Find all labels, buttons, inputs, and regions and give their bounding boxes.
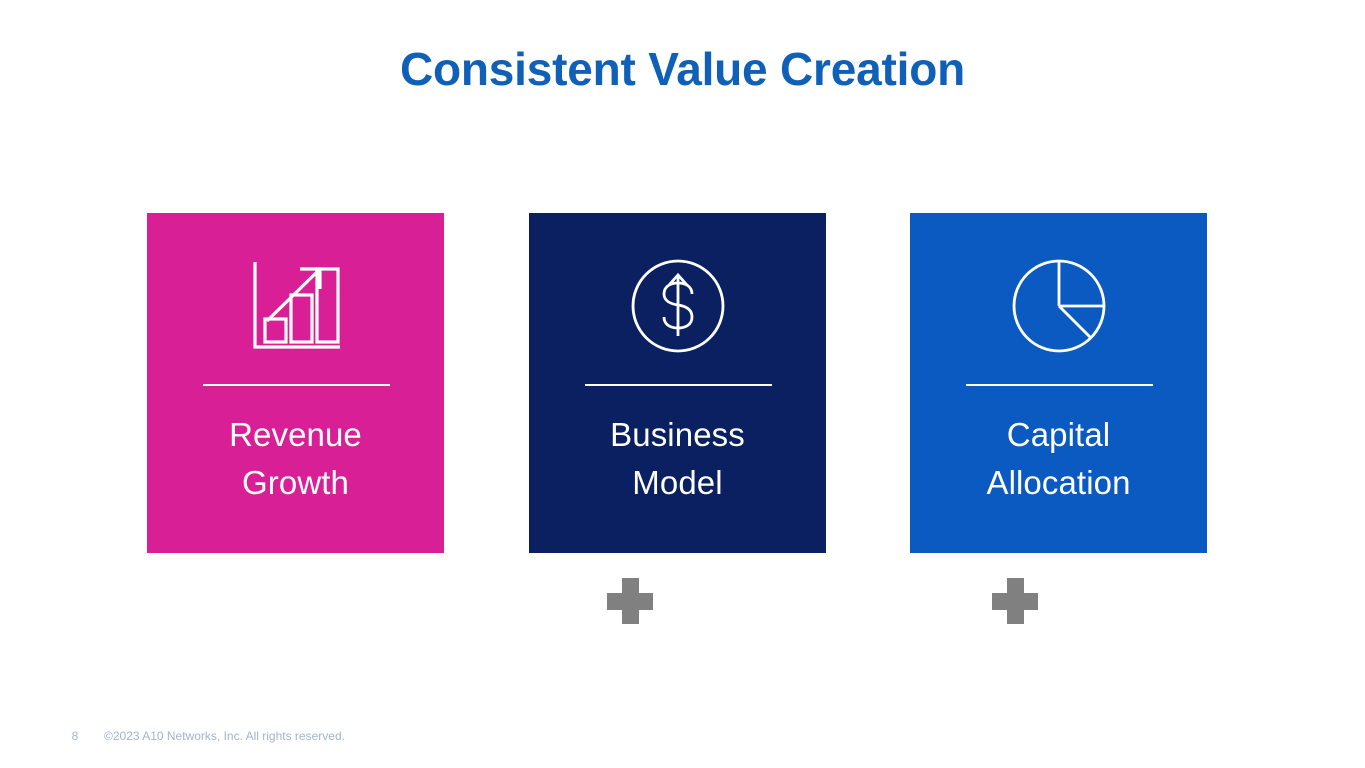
pillar-divider: [585, 384, 772, 386]
plus-icon-vertical-bar: [1007, 578, 1024, 624]
pillar-label-revenue-growth: Revenue Growth: [161, 411, 430, 507]
copyright-notice: ©2023 A10 Networks, Inc. All rights rese…: [104, 727, 345, 745]
pillar-divider: [966, 384, 1153, 386]
pillar-label-line: Model: [543, 459, 812, 507]
page-title: Consistent Value Creation: [0, 46, 1365, 92]
pillar-label-line: Capital: [924, 411, 1193, 459]
plus-icon: [992, 578, 1038, 624]
pillar-label-line: Revenue: [161, 411, 430, 459]
plus-icon-vertical-bar: [622, 578, 639, 624]
pillar-card-capital-allocation[interactable]: Capital Allocation: [910, 213, 1207, 553]
pillar-divider: [203, 384, 390, 386]
slide-footer: 8 ©2023 A10 Networks, Inc. All rights re…: [0, 727, 1365, 747]
pie-chart-icon: [910, 245, 1207, 367]
pillar-label-capital-allocation: Capital Allocation: [924, 411, 1193, 507]
pillar-label-line: Allocation: [924, 459, 1193, 507]
pillar-label-line: Business: [543, 411, 812, 459]
slide-canvas: Consistent Value Creation Rev: [0, 0, 1365, 768]
dollar-circle-icon: [529, 245, 826, 367]
page-number: 8: [64, 727, 86, 745]
pillar-label-business-model: Business Model: [543, 411, 812, 507]
value-pillars-row: Revenue Growth Business Model: [147, 213, 1207, 553]
pillar-card-business-model[interactable]: Business Model: [529, 213, 826, 553]
plus-icon: [607, 578, 653, 624]
pillar-label-line: Growth: [161, 459, 430, 507]
pillar-card-revenue-growth[interactable]: Revenue Growth: [147, 213, 444, 553]
bar-chart-growth-icon: [147, 245, 444, 367]
